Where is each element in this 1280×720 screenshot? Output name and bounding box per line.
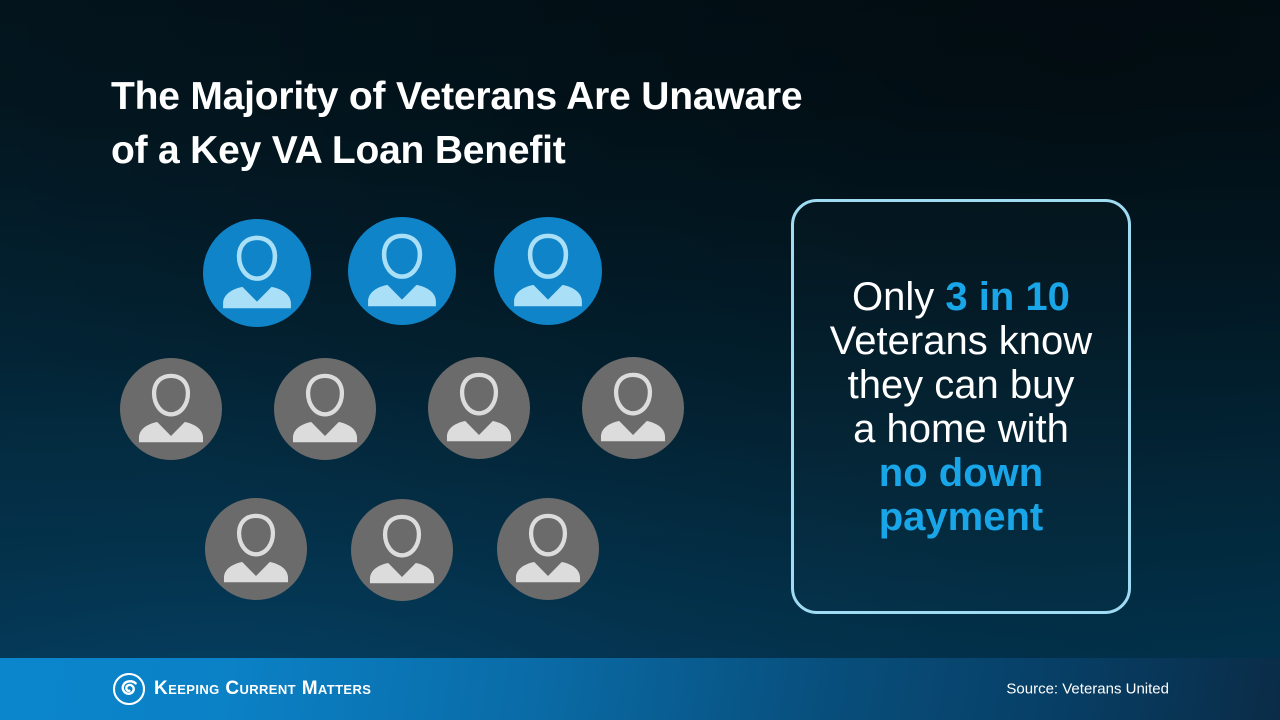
brand-name-label: Keeping Current Matters bbox=[154, 678, 371, 700]
person-icon-6-muted bbox=[428, 357, 530, 459]
person-icon-1-highlighted bbox=[203, 219, 311, 327]
callout-line4: a home with bbox=[853, 407, 1069, 451]
callout-line3: they can buy bbox=[848, 363, 1075, 407]
person-icon-8-muted bbox=[205, 498, 307, 600]
person-icon-7-muted bbox=[582, 357, 684, 459]
callout-line5-accent: no down bbox=[879, 451, 1043, 495]
infographic-slide: The Majority of Veterans Are Unaware of … bbox=[0, 0, 1280, 720]
brand-logo: Keeping Current Matters bbox=[113, 673, 371, 705]
person-icon-4-muted bbox=[120, 358, 222, 460]
callout-line2: Veterans know bbox=[830, 319, 1092, 363]
swirl-logo-icon bbox=[113, 673, 145, 705]
person-icon-2-highlighted bbox=[348, 217, 456, 325]
person-icon-5-muted bbox=[274, 358, 376, 460]
pictogram-icon-grid bbox=[0, 0, 760, 660]
footer-bar: Keeping Current Matters Source: Veterans… bbox=[0, 658, 1280, 720]
callout-line1-prefix: Only bbox=[852, 275, 945, 319]
source-attribution: Source: Veterans United bbox=[1006, 681, 1169, 698]
callout-line1-accent: 3 in 10 bbox=[945, 275, 1070, 319]
callout-box: Only 3 in 10 Veterans know they can buy … bbox=[791, 199, 1131, 614]
person-icon-3-highlighted bbox=[494, 217, 602, 325]
person-icon-10-muted bbox=[497, 498, 599, 600]
person-icon-9-muted bbox=[351, 499, 453, 601]
callout-text: Only 3 in 10 Veterans know they can buy … bbox=[816, 275, 1106, 539]
callout-line6-accent: payment bbox=[879, 495, 1044, 539]
